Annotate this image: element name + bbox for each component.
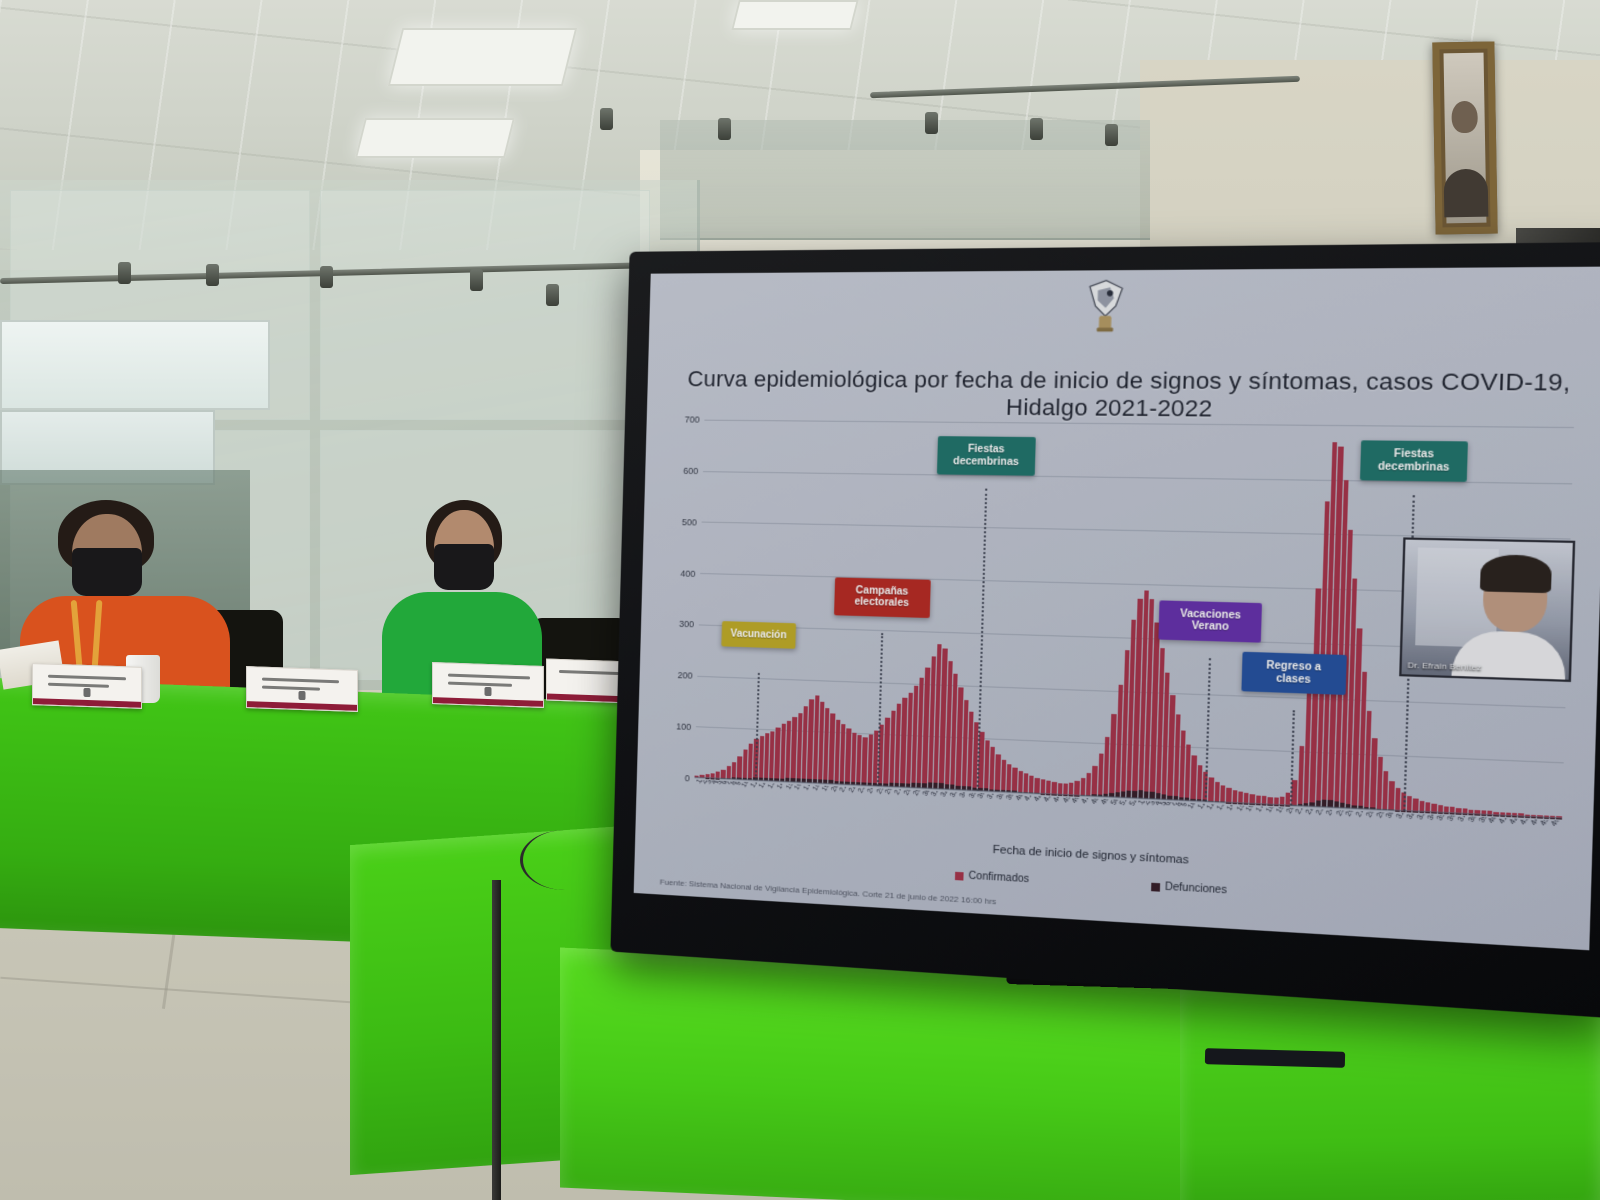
- placard-text-line: [262, 678, 339, 684]
- chart-bar: [1407, 796, 1412, 812]
- legend-label-defunciones: Defunciones: [1165, 881, 1227, 896]
- chart-bar: [1012, 767, 1017, 793]
- name-placard: [32, 663, 142, 709]
- face-mask: [434, 544, 494, 590]
- ceiling-light-panel: [731, 0, 858, 30]
- tv-bezel: Curva epidemiológica por fecha de inicio…: [610, 242, 1600, 1018]
- chart-bar: [1220, 785, 1225, 802]
- floor-tile-line: [0, 977, 379, 1006]
- legend-swatch-confirmados: [955, 871, 964, 880]
- chart-bar: [1006, 764, 1011, 793]
- chart-y-tick-label: 700: [685, 414, 700, 424]
- chart-bar: [1001, 759, 1007, 792]
- chart-bar: [1197, 765, 1203, 802]
- chart-bar: [1388, 781, 1394, 811]
- face-mask: [72, 548, 142, 596]
- annotation-regreso-a-clases: Regreso a clases: [1241, 652, 1346, 695]
- chart-y-tick-label: 0: [685, 773, 690, 783]
- chart-bar: [1226, 788, 1231, 803]
- window: [0, 320, 270, 410]
- annotation-fiestas-decembrinas-1: Fiestas decembrinas: [937, 436, 1036, 476]
- chart-bar: [1035, 778, 1040, 794]
- placard-seal: [299, 691, 306, 700]
- track-spotlight: [1030, 118, 1043, 140]
- track-spotlight: [546, 284, 559, 306]
- slide-title: Curva epidemiológica por fecha de inicio…: [686, 366, 1570, 426]
- chart-bar: [1382, 771, 1388, 811]
- annotation-vacaciones-verano: Vacaciones Verano: [1159, 600, 1263, 642]
- track-spotlight: [600, 108, 613, 130]
- chart-bar: [737, 756, 742, 780]
- slide-source-note: Fuente: Sistema Nacional de Vigilancia E…: [660, 877, 997, 906]
- placard-text-line: [559, 670, 619, 675]
- legend-item-confirmados: Confirmados: [955, 870, 1030, 886]
- chart-y-tick-label: 100: [676, 721, 691, 732]
- legend-swatch-defunciones: [1151, 882, 1160, 891]
- legend-item-defunciones: Defunciones: [1151, 881, 1227, 897]
- track-spotlight: [118, 262, 131, 284]
- chart-bar: [1029, 775, 1034, 793]
- annotation-vacunacion: Vacunación: [721, 621, 796, 649]
- chart-y-tick-label: 400: [680, 568, 695, 578]
- upper-glass-band: [660, 120, 1150, 240]
- placard-text-line: [262, 686, 319, 691]
- table-support-pole: [492, 880, 501, 1200]
- portrait-body: [1444, 169, 1489, 218]
- name-placard: [246, 666, 358, 712]
- portrait-canvas: [1444, 53, 1487, 224]
- track-spotlight: [718, 118, 731, 140]
- television: Curva epidemiológica por fecha de inicio…: [620, 252, 1548, 1052]
- chart-bar: [732, 762, 737, 780]
- placard-text-line: [48, 675, 126, 681]
- state-coat-of-arms-logo: [1074, 276, 1137, 335]
- chart-bar: [1092, 765, 1098, 796]
- chart-bar: [1208, 777, 1214, 802]
- pip-person-hair: [1480, 555, 1552, 594]
- track-spotlight: [925, 112, 938, 134]
- presentation-slide: Curva epidemiológica por fecha de inicio…: [634, 267, 1600, 951]
- track-spotlight: [320, 266, 333, 288]
- chart-bar: [1023, 773, 1028, 793]
- track-spotlight: [1105, 124, 1118, 146]
- legend-label-confirmados: Confirmados: [968, 870, 1029, 885]
- chart-bar: [1086, 773, 1091, 797]
- chart-y-tick-label: 600: [683, 466, 698, 476]
- ceiling-light-panel: [388, 28, 577, 86]
- placard-text-line: [448, 682, 512, 687]
- chart-bar: [1018, 771, 1023, 793]
- annotation-fiestas-decembrinas-2: Fiestas decembrinas: [1360, 441, 1468, 482]
- name-placard: [432, 662, 544, 708]
- video-call-participant[interactable]: Dr. Efraín Benítez: [1399, 537, 1575, 682]
- glass-pane: [320, 190, 650, 420]
- chart-y-tick-label: 300: [679, 619, 694, 630]
- chart-bar: [1075, 781, 1080, 796]
- chart-bar: [1395, 788, 1401, 811]
- chart-y-tick-label: 500: [682, 517, 697, 527]
- chart-bar: [1040, 779, 1045, 794]
- placard-seal: [485, 687, 492, 696]
- chart-bar: [1214, 782, 1219, 803]
- placard-text-line: [448, 674, 529, 680]
- placard-text-line: [48, 683, 108, 688]
- placard-seal: [84, 688, 91, 697]
- framed-portrait: [1432, 41, 1497, 234]
- tv-screen[interactable]: Curva epidemiológica por fecha de inicio…: [634, 267, 1600, 951]
- cable: [520, 830, 610, 890]
- annotation-campanas-electorales: Campañas electorales: [834, 577, 931, 618]
- chart-y-tick-label: 200: [677, 670, 692, 681]
- chart-bar: [1080, 778, 1085, 796]
- track-spotlight: [470, 269, 483, 291]
- chart-bar: [742, 749, 747, 780]
- ceiling-light-panel: [355, 118, 515, 158]
- track-spotlight: [206, 264, 219, 286]
- portrait-head: [1451, 100, 1478, 132]
- room-scene: Curva epidemiológica por fecha de inicio…: [0, 0, 1600, 1200]
